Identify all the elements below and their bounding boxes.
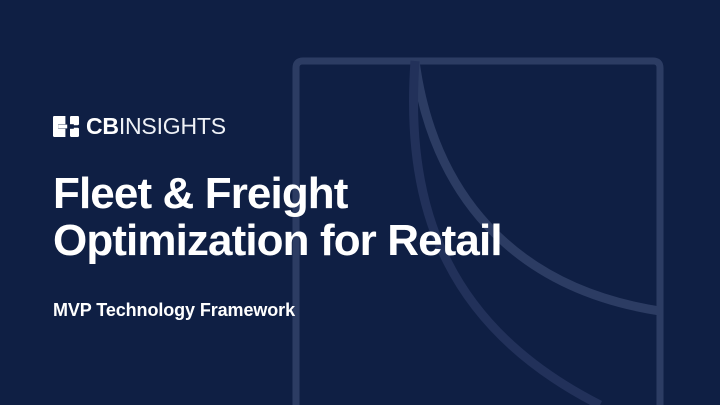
cb-insights-wordmark: CBINSIGHTS <box>86 115 226 138</box>
cb-insights-logo: CBINSIGHTS <box>53 115 226 138</box>
page-title: Fleet & Freight Optimization for Retail <box>53 170 502 264</box>
page-subtitle: MVP Technology Framework <box>53 300 295 322</box>
wordmark-cb: CB <box>86 113 119 139</box>
page-title-line-2: Optimization for Retail <box>53 217 502 264</box>
wordmark-insights: INSIGHTS <box>119 113 226 139</box>
slide-content: CBINSIGHTS Fleet & Freight Optimization … <box>53 0 653 405</box>
title-slide: CBINSIGHTS Fleet & Freight Optimization … <box>0 0 720 405</box>
page-title-line-1: Fleet & Freight <box>53 170 502 217</box>
cb-insights-logo-mark <box>53 116 79 137</box>
